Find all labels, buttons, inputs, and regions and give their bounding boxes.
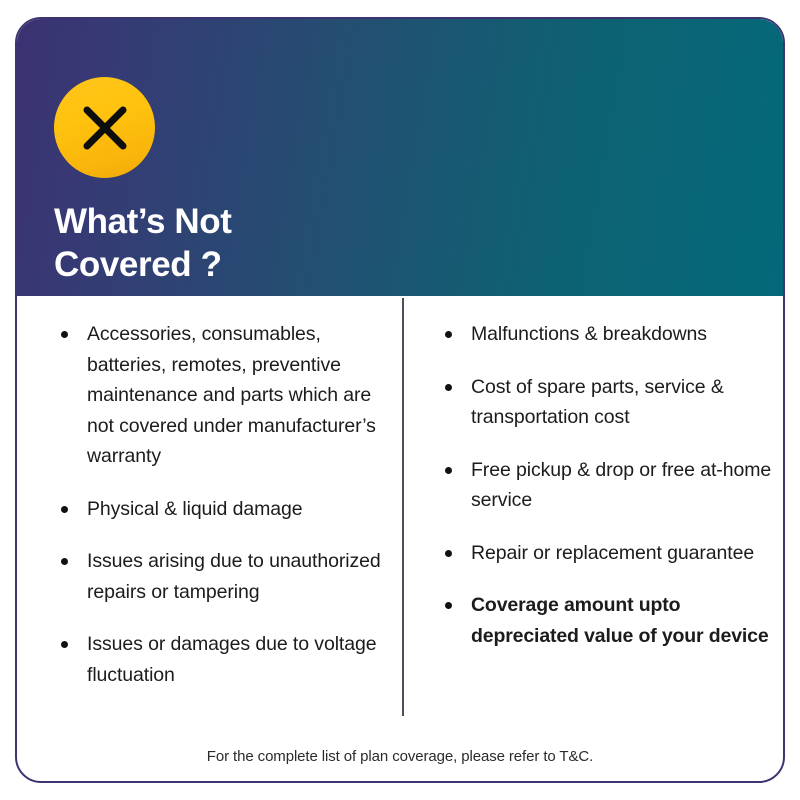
list-item-label: Issues arising due to unauthorized repai… [87,550,381,603]
list-item-label: Repair or replacement guarantee [471,542,754,564]
header-column-not-covered: What’s Not Covered ? [17,19,401,296]
bullet-dot-icon [61,331,68,338]
bullet-dot-icon [445,602,452,609]
header-column-covered: What’s Covered ? [401,19,783,296]
coverage-comparison-card: What’s Not Covered ? What’s Covered ? Ac… [15,17,785,783]
bullet-dot-icon [445,467,452,474]
list-item: Physical & liquid damage [45,494,397,525]
list-item-label: Free pickup & drop or free at-home servi… [471,459,771,512]
list-item-label: Issues or damages due to voltage fluctua… [87,633,376,686]
list-item: Repair or replacement guarantee [429,538,779,569]
list-item-label: Accessories, consumables, batteries, rem… [87,323,376,467]
column-divider [402,298,404,716]
list-item: Coverage amount upto depreciated value o… [429,590,779,651]
list-item-label: Cost of spare parts, service & transport… [471,376,724,429]
list-item: Accessories, consumables, batteries, rem… [45,319,397,472]
list-item-label: Malfunctions & breakdowns [471,323,707,345]
card-header-band: What’s Not Covered ? What’s Covered ? [17,19,783,296]
list-item: Issues arising due to unauthorized repai… [45,546,397,607]
list-item-label: Physical & liquid damage [87,498,302,520]
covered-list-container: Malfunctions & breakdownsCost of spare p… [429,319,779,651]
page-title-not-covered: What’s Not Covered ? [54,200,231,286]
bullet-dot-icon [445,331,452,338]
bullet-dot-icon [445,384,452,391]
bullet-dot-icon [61,558,68,565]
covered-list: Malfunctions & breakdownsCost of spare p… [429,319,779,651]
bullet-dot-icon [61,506,68,513]
not-covered-list-container: Accessories, consumables, batteries, rem… [45,319,397,690]
list-item-label: Coverage amount upto depreciated value o… [471,594,769,647]
bullet-dot-icon [61,641,68,648]
footnote-text: For the complete list of plan coverage, … [17,748,783,765]
card-body: Accessories, consumables, batteries, rem… [17,296,783,783]
bullet-dot-icon [445,550,452,557]
list-item: Cost of spare parts, service & transport… [429,372,779,433]
list-item: Free pickup & drop or free at-home servi… [429,455,779,516]
not-covered-list: Accessories, consumables, batteries, rem… [45,319,397,690]
list-item: Malfunctions & breakdowns [429,319,779,350]
list-item: Issues or damages due to voltage fluctua… [45,629,397,690]
cross-icon [54,77,155,178]
screenshot-stage: What’s Not Covered ? What’s Covered ? Ac… [0,0,800,800]
